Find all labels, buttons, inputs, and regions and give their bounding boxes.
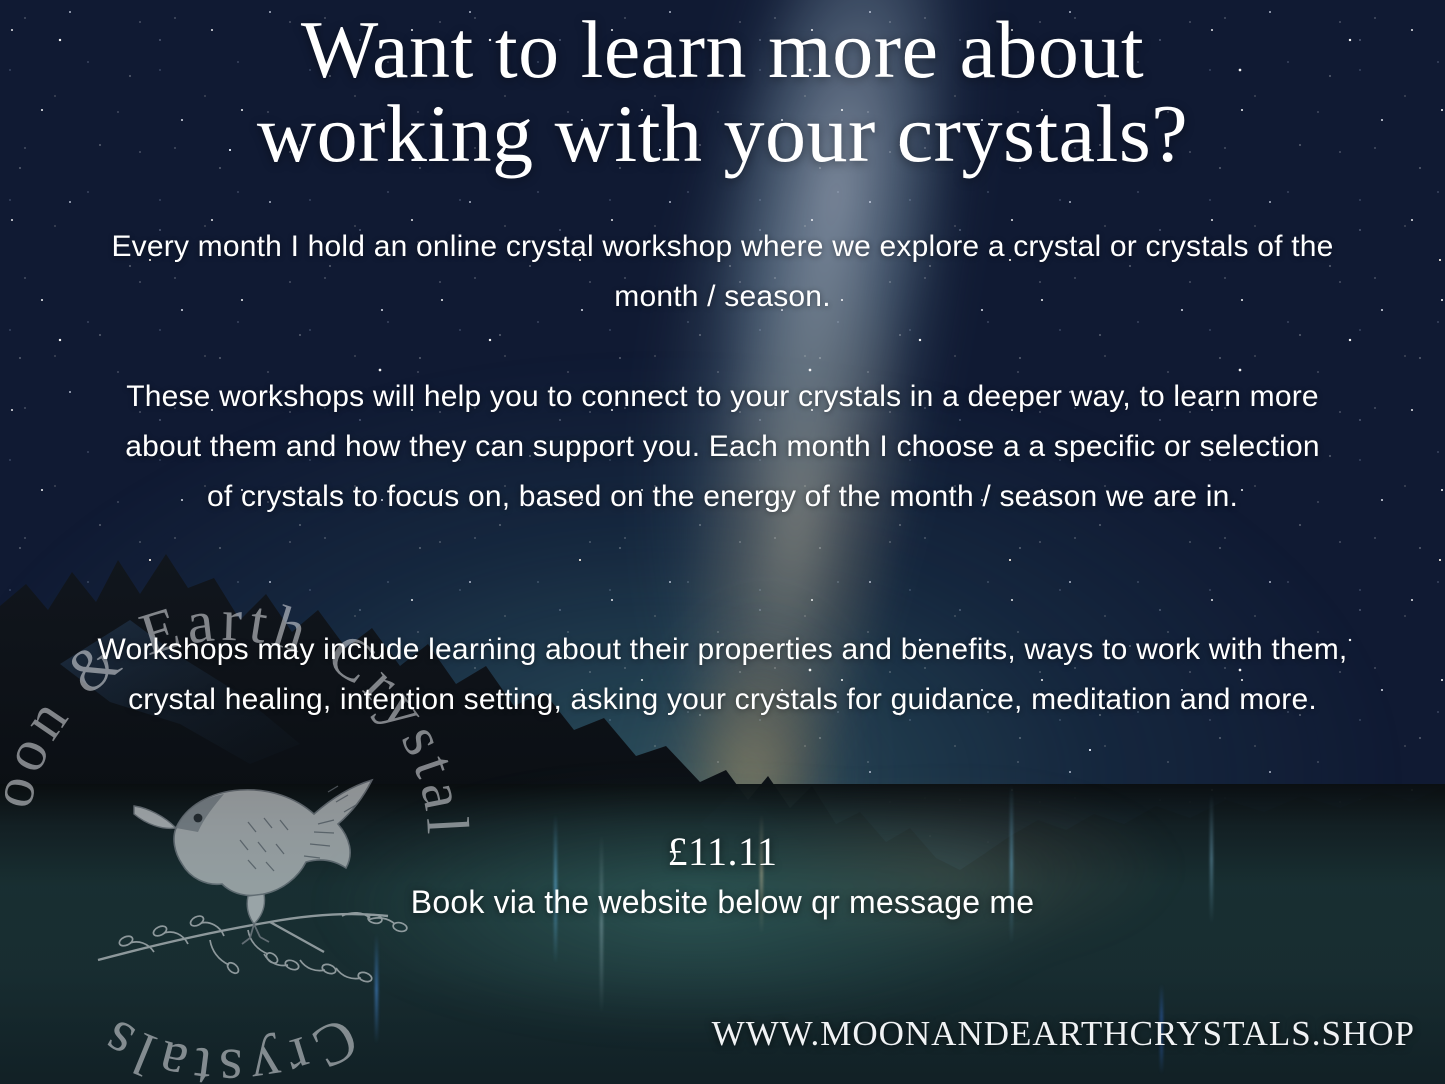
website-url[interactable]: WWW.MOONANDEARTHCRYSTALS.SHOP — [712, 1014, 1415, 1054]
paragraph-contents: Workshops may include learning about the… — [0, 625, 1445, 725]
booking-instruction: Book via the website below qr message me — [0, 884, 1445, 921]
paragraph-intro: Every month I hold an online crystal wor… — [0, 222, 1445, 322]
title-line-1: Want to learn more about — [301, 4, 1144, 95]
crystal-workshop-poster: Moon & Earth Crystals Crystals Want to l… — [0, 0, 1445, 1084]
reflection-streak — [375, 934, 378, 1044]
title-line-2: working with your crystals? — [0, 92, 1445, 176]
paragraph-benefits: These workshops will help you to connect… — [0, 372, 1445, 522]
price-label: £11.11 — [0, 828, 1445, 875]
page-title: Want to learn more about working with yo… — [0, 8, 1445, 175]
